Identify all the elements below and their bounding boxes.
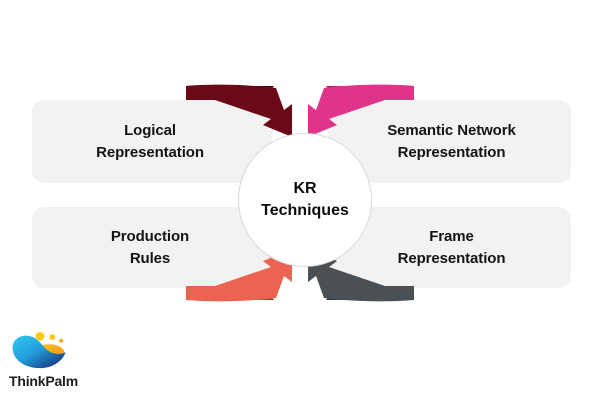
arrow-production-rules-fold [186, 286, 274, 300]
kr-techniques-diagram: Logical Representation Semantic Network … [0, 0, 600, 400]
brand-logo: ThinkPalm [9, 330, 119, 389]
node-production-rules-label: Production Rules [32, 226, 272, 269]
center-hub: KR Techniques [238, 133, 372, 267]
arrow-semantic-network-representation-fold [326, 86, 414, 100]
node-logical-representation[interactable]: Logical Representation [32, 100, 272, 183]
node-semantic-network-representation-label: Semantic Network Representation [328, 120, 571, 163]
arrow-logical-representation-fold [186, 86, 274, 100]
node-logical-representation-label: Logical Representation [32, 120, 272, 163]
node-frame-representation-label: Frame Representation [328, 226, 571, 269]
node-production-rules[interactable]: Production Rules [32, 207, 272, 288]
thinkpalm-wave-logo [9, 330, 71, 370]
brand-name: ThinkPalm [9, 373, 119, 389]
logo-dot-large [36, 332, 45, 341]
logo-dot-medium [49, 334, 55, 340]
arrow-frame-representation-fold [326, 286, 414, 300]
logo-dot-small [59, 339, 63, 343]
center-hub-label: KR Techniques [261, 178, 349, 221]
